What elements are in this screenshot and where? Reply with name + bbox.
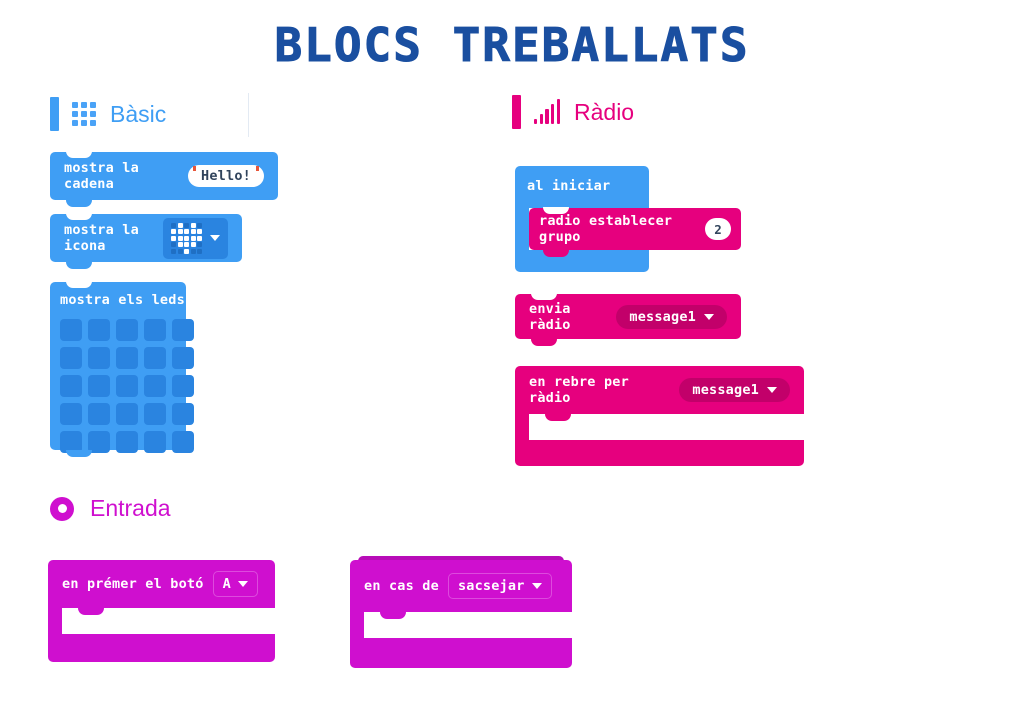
led-cell[interactable] xyxy=(172,431,194,453)
icon-dropdown-field[interactable] xyxy=(163,218,228,259)
block-label-on-button-pressed: en prémer el botó xyxy=(62,576,204,592)
block-notch-top xyxy=(66,281,92,288)
led-cell xyxy=(191,249,196,254)
led-cell[interactable] xyxy=(116,347,138,369)
led-cell xyxy=(197,249,202,254)
block-label-show-leds: mostra els leds xyxy=(60,292,186,308)
led-cell[interactable] xyxy=(144,375,166,397)
quote-right-icon xyxy=(256,166,259,171)
led-cell xyxy=(184,242,189,247)
text-input-hello[interactable]: Hello! xyxy=(188,165,264,187)
led-cell[interactable] xyxy=(60,375,82,397)
led-cell xyxy=(197,236,202,241)
led-cell[interactable] xyxy=(144,319,166,341)
mouth-notch xyxy=(380,612,406,619)
block-label-show-icon: mostra la icona xyxy=(64,222,154,254)
led-cell[interactable] xyxy=(60,347,82,369)
led-cell xyxy=(171,236,176,241)
grid-3x3-icon xyxy=(72,102,96,126)
led-cell[interactable] xyxy=(88,375,110,397)
category-label-radio: Ràdio xyxy=(574,99,634,126)
block-label-radio-set-group: radio establecer grupo xyxy=(539,213,696,245)
signal-bars-icon xyxy=(534,100,560,124)
button-dropdown-value: A xyxy=(223,576,231,592)
block-label-on-start: al iniciar xyxy=(527,178,610,194)
led-cell xyxy=(178,236,183,241)
category-header-radio: Ràdio xyxy=(512,95,634,129)
led-cell[interactable] xyxy=(60,319,82,341)
category-accent-bar-basic xyxy=(50,97,59,131)
mouth-notch xyxy=(78,608,104,615)
message-dropdown-value: message1 xyxy=(629,309,696,325)
led-cell xyxy=(184,236,189,241)
led-cell xyxy=(197,229,202,234)
led-cell[interactable] xyxy=(172,375,194,397)
page-title: BLOCS TREBALLATS xyxy=(0,18,1024,72)
message-dropdown[interactable]: message1 xyxy=(679,378,790,402)
led-cell xyxy=(191,236,196,241)
led-cell[interactable] xyxy=(172,347,194,369)
led-cell[interactable] xyxy=(88,347,110,369)
chevron-down-icon xyxy=(767,387,777,393)
led-cell[interactable] xyxy=(172,319,194,341)
category-accent-bar-radio xyxy=(512,95,521,129)
led-cell[interactable] xyxy=(116,375,138,397)
led-cell[interactable] xyxy=(144,347,166,369)
number-input-group[interactable]: 2 xyxy=(705,218,731,240)
led-cell xyxy=(184,249,189,254)
block-radio-on-received[interactable]: en rebre per ràdio message1 xyxy=(515,366,804,466)
chevron-down-icon xyxy=(704,314,714,320)
block-radio-set-group[interactable]: radio establecer grupo 2 xyxy=(529,208,741,250)
circle-dot-icon xyxy=(50,497,74,521)
led-matrix-grid[interactable] xyxy=(60,319,186,453)
led-cell xyxy=(171,223,176,228)
block-show-string[interactable]: mostra la cadena Hello! xyxy=(50,152,278,200)
gesture-dropdown-value: sacsejar xyxy=(458,578,525,594)
category-label-input: Entrada xyxy=(90,495,171,522)
block-on-button-pressed[interactable]: en prémer el botó A xyxy=(48,560,275,662)
led-cell[interactable] xyxy=(116,403,138,425)
category-header-basic: Bàsic xyxy=(50,97,166,131)
led-cell[interactable] xyxy=(116,319,138,341)
block-label-show-string: mostra la cadena xyxy=(64,160,179,192)
message-dropdown-value: message1 xyxy=(692,382,759,398)
gesture-dropdown[interactable]: sacsejar xyxy=(448,573,552,599)
block-label-on-gesture: en cas de xyxy=(364,578,439,594)
led-cell[interactable] xyxy=(172,403,194,425)
button-dropdown[interactable]: A xyxy=(213,571,258,597)
led-cell[interactable] xyxy=(116,431,138,453)
block-radio-send[interactable]: envia ràdio message1 xyxy=(515,294,741,339)
block-label-radio-on-received: en rebre per ràdio xyxy=(529,374,670,406)
led-cell xyxy=(191,223,196,228)
category-header-input: Entrada xyxy=(50,495,171,522)
block-notch-top xyxy=(543,207,569,214)
chevron-down-icon xyxy=(238,581,248,587)
block-show-leds[interactable]: mostra els leds xyxy=(50,282,186,450)
led-cell[interactable] xyxy=(60,403,82,425)
chevron-down-icon xyxy=(210,235,220,241)
block-tab-bottom xyxy=(66,450,92,457)
mouth-notch xyxy=(545,414,571,421)
led-cell xyxy=(171,249,176,254)
block-tab-bottom xyxy=(531,339,557,346)
led-cell xyxy=(171,229,176,234)
block-notch-top xyxy=(531,293,557,300)
block-show-icon[interactable]: mostra la icona xyxy=(50,214,242,262)
led-cell[interactable] xyxy=(88,403,110,425)
heart-led-icon xyxy=(171,223,202,254)
led-cell xyxy=(171,242,176,247)
block-on-gesture[interactable]: en cas de sacsejar xyxy=(350,560,572,668)
led-cell xyxy=(178,242,183,247)
block-notch-top xyxy=(66,151,92,158)
led-cell xyxy=(178,249,183,254)
message-dropdown[interactable]: message1 xyxy=(616,305,727,329)
block-notch-top xyxy=(66,213,92,220)
led-cell xyxy=(184,229,189,234)
block-mouth xyxy=(529,414,804,440)
led-cell xyxy=(191,229,196,234)
led-cell xyxy=(184,223,189,228)
led-cell[interactable] xyxy=(144,431,166,453)
category-label-basic: Bàsic xyxy=(110,101,166,128)
header-divider xyxy=(248,93,249,137)
block-tab-bottom xyxy=(66,262,92,269)
chevron-down-icon xyxy=(532,583,542,589)
block-label-radio-send: envia ràdio xyxy=(529,301,607,333)
led-cell[interactable] xyxy=(144,403,166,425)
quote-left-icon xyxy=(193,166,196,171)
led-cell xyxy=(178,223,183,228)
led-cell[interactable] xyxy=(88,319,110,341)
led-cell xyxy=(197,242,202,247)
led-cell xyxy=(178,229,183,234)
block-tab-bottom xyxy=(66,200,92,207)
block-tab-bottom xyxy=(543,250,569,257)
led-cell xyxy=(191,242,196,247)
led-cell xyxy=(197,223,202,228)
text-input-value: Hello! xyxy=(201,168,251,184)
